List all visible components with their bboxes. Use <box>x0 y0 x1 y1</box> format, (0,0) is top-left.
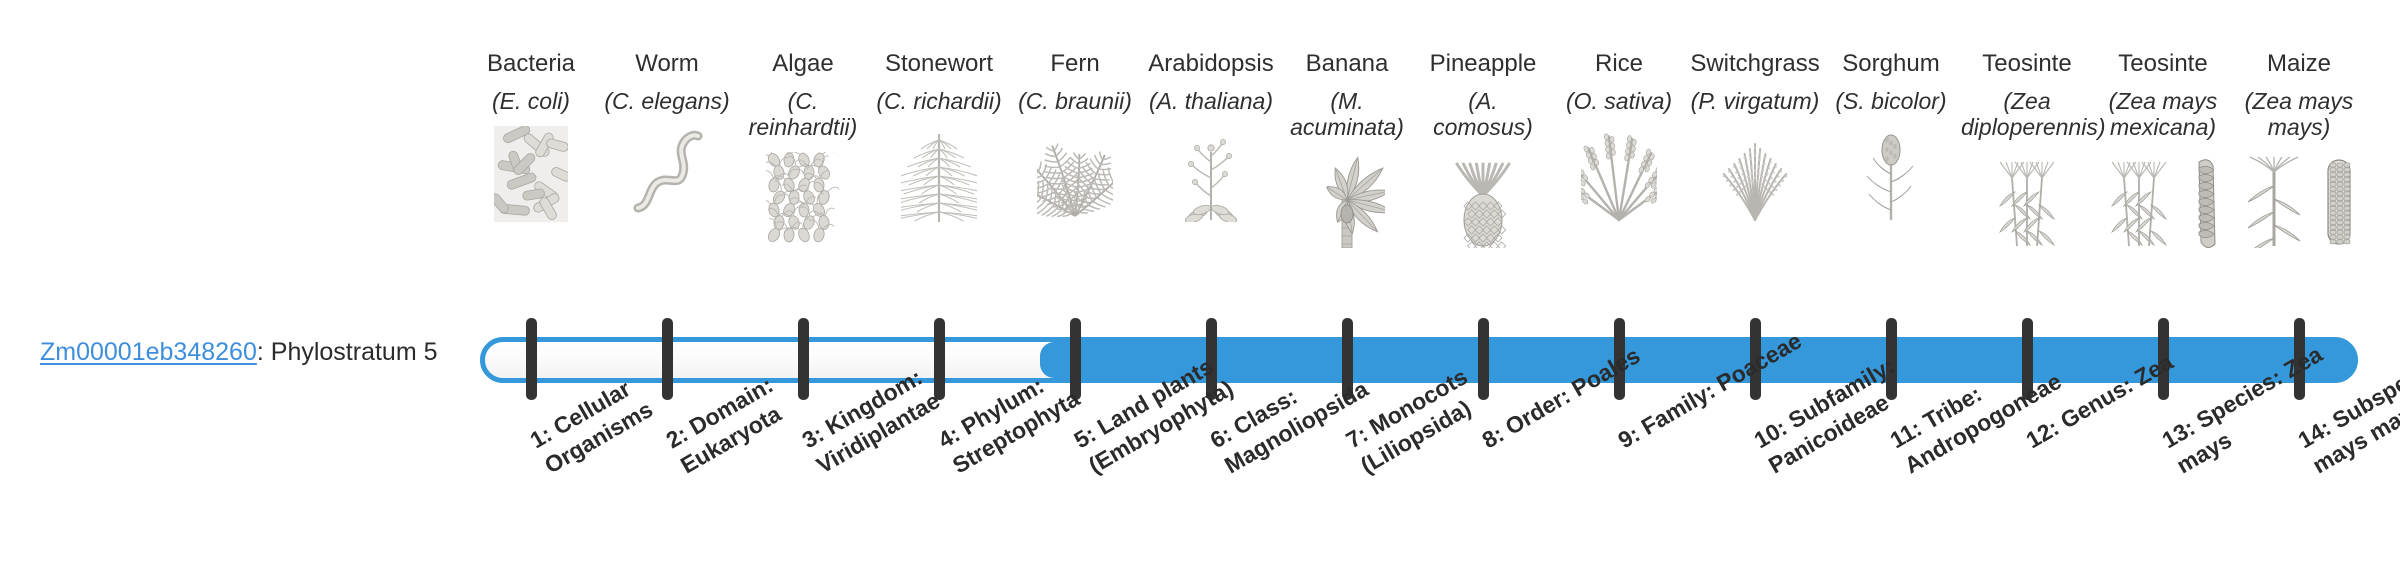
species-latin-name: (Zea mays mexicana) <box>2095 88 2231 141</box>
species-column-rice: Rice(O. sativa) <box>1551 50 1687 222</box>
species-latin-name: (S. bicolor) <box>1823 88 1959 114</box>
species-illustration-stonewort-icon <box>871 122 1007 222</box>
species-illustration-worm-icon <box>599 122 735 222</box>
species-common-name: Worm <box>599 50 735 78</box>
gene-id-link[interactable]: Zm00001eb348260 <box>40 338 257 366</box>
species-latin-name: (E. coli) <box>463 88 599 114</box>
species-illustration-switchgrass-icon <box>1687 122 1823 222</box>
species-column-algae: Algae(C. reinhardtii) <box>735 50 871 248</box>
species-common-name: Sorghum <box>1823 50 1959 78</box>
species-column-bacteria: Bacteria(E. coli) <box>463 50 599 222</box>
species-latin-name: (C. braunii) <box>1007 88 1143 114</box>
species-column-sorghum: Sorghum(S. bicolor) <box>1823 50 1959 222</box>
species-latin-name: (M. acuminata) <box>1279 88 1415 141</box>
species-common-name: Switchgrass <box>1687 50 1823 78</box>
species-common-name: Arabidopsis <box>1143 50 1279 78</box>
species-common-name: Stonewort <box>871 50 1007 78</box>
species-latin-name: (Zea mays mays) <box>2231 88 2367 141</box>
species-latin-name: (C. richardii) <box>871 88 1007 114</box>
species-latin-name: (A. comosus) <box>1415 88 1551 141</box>
phylostratum-value-text: Phylostratum 5 <box>271 338 438 366</box>
species-column-arabidopsis: Arabidopsis(A. thaliana) <box>1143 50 1279 222</box>
species-common-name: Rice <box>1551 50 1687 78</box>
species-illustration-fern-icon <box>1007 122 1143 222</box>
species-illustration-arabidopsis-icon <box>1143 122 1279 222</box>
species-column-fern: Fern(C. braunii) <box>1007 50 1143 222</box>
species-column-teosinte: Teosinte(Zea diploperennis) <box>1959 50 2095 248</box>
species-column-stonewort: Stonewort(C. richardii) <box>871 50 1007 222</box>
species-column-pineapple: Pineapple(A. comosus) <box>1415 50 1551 248</box>
species-column-maize: Maize(Zea mays mays) <box>2231 50 2367 248</box>
species-illustration-teosinte1-icon <box>1959 148 2095 248</box>
species-common-name: Teosinte <box>2095 50 2231 78</box>
species-latin-name: (O. sativa) <box>1551 88 1687 114</box>
species-column-banana: Banana(M. acuminata) <box>1279 50 1415 248</box>
species-latin-name: (C. elegans) <box>599 88 735 114</box>
species-common-name: Fern <box>1007 50 1143 78</box>
species-common-name: Algae <box>735 50 871 78</box>
species-latin-name: (Zea diploperennis) <box>1959 88 2095 141</box>
species-common-name: Bacteria <box>463 50 599 78</box>
gene-phylostratum-label: Zm00001eb348260: Phylostratum 5 <box>40 337 438 367</box>
species-column-switchgrass: Switchgrass(P. virgatum) <box>1687 50 1823 222</box>
species-latin-name: (P. virgatum) <box>1687 88 1823 114</box>
species-illustration-algae-icon <box>735 148 871 248</box>
species-column-teosinte: Teosinte(Zea mays mexicana) <box>2095 50 2231 248</box>
species-latin-name: (A. thaliana) <box>1143 88 1279 114</box>
species-illustration-pineapple-icon <box>1415 148 1551 248</box>
species-illustration-banana-icon <box>1279 148 1415 248</box>
species-column-worm: Worm(C. elegans) <box>599 50 735 222</box>
species-latin-name: (C. reinhardtii) <box>735 88 871 141</box>
gene-label-separator: : <box>257 338 271 366</box>
species-common-name: Maize <box>2231 50 2367 78</box>
species-illustration-teosinte2-icon <box>2095 148 2231 248</box>
species-illustration-rice-icon <box>1551 122 1687 222</box>
species-common-name: Teosinte <box>1959 50 2095 78</box>
species-illustration-sorghum-icon <box>1823 122 1959 222</box>
species-common-name: Pineapple <box>1415 50 1551 78</box>
species-illustration-bacteria-icon <box>463 122 599 222</box>
tick-mark-1[interactable] <box>526 318 537 400</box>
species-common-name: Banana <box>1279 50 1415 78</box>
species-illustration-maize-icon <box>2231 148 2367 248</box>
